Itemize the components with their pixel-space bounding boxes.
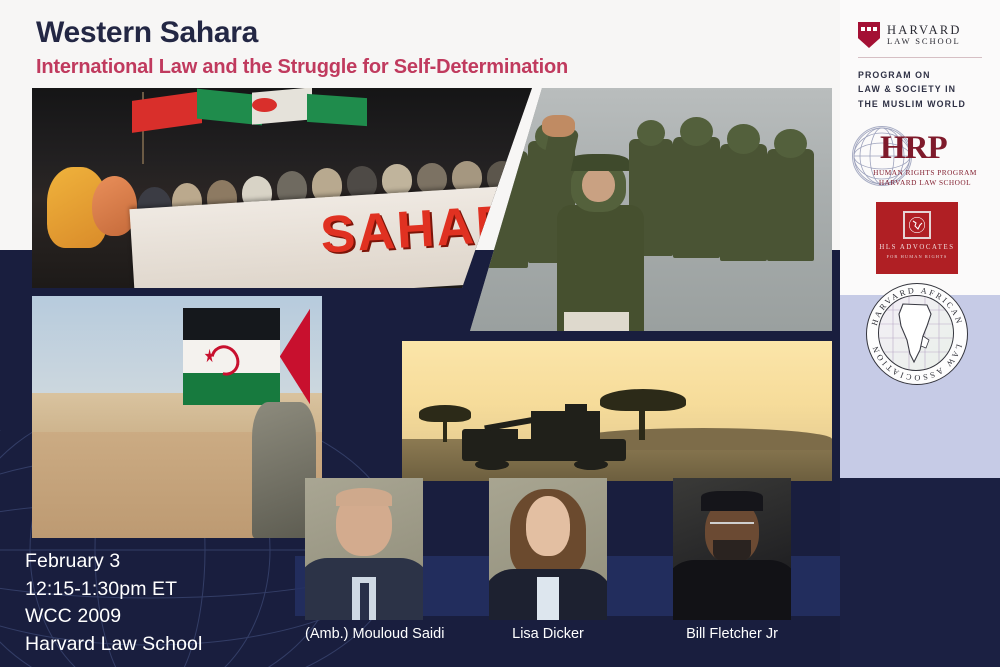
association-arc-text: HARVARD AFRICAN LAW ASSOCIATION [867, 284, 967, 384]
page-title: Western Sahara [36, 18, 258, 48]
speaker-name: (Amb.) Mouloud Saidi [305, 626, 423, 642]
speaker-card: Bill Fletcher Jr [673, 478, 791, 620]
law-school-wordmark: LAW SCHOOL [887, 37, 962, 47]
logo-column-navy-band [840, 478, 1000, 667]
event-venue: Harvard Law School [25, 631, 202, 659]
photo-desert-vehicle [402, 341, 832, 481]
speaker-photo [305, 478, 423, 620]
event-poster: Western Sahara International Law and the… [0, 0, 1000, 667]
hrp-wordmark: HRP [880, 130, 947, 167]
event-time: 12:15-1:30pm ET [25, 576, 202, 604]
program-name: PROGRAM ON LAW & SOCIETY IN THE MUSLIM W… [858, 68, 986, 111]
logo-divider [858, 57, 982, 58]
svg-text:HARVARD AFRICAN: HARVARD AFRICAN [870, 286, 964, 327]
page-subtitle: International Law and the Struggle for S… [36, 57, 568, 77]
hrp-subtitle-1: HUMAN RIGHTS PROGRAM [858, 168, 992, 177]
event-date: February 3 [25, 548, 202, 576]
event-details: February 3 12:15-1:30pm ET WCC 2009 Harv… [25, 548, 202, 659]
speaker-photo [489, 478, 607, 620]
hrp-logo: HRP HUMAN RIGHTS PROGRAM HARVARD LAW SCH… [852, 126, 992, 196]
harvard-wordmark: HARVARD [887, 23, 962, 37]
advocates-globe-icon [903, 211, 931, 239]
photo-protest: SAHARA [32, 88, 532, 288]
svg-text:LAW ASSOCIATION: LAW ASSOCIATION [870, 343, 963, 382]
hrp-subtitle-2: HARVARD LAW SCHOOL [858, 178, 992, 187]
advocates-line-2: FOR HUMAN RIGHTS [876, 254, 958, 259]
speaker-name: Bill Fletcher Jr [673, 626, 791, 642]
speaker-card: (Amb.) Mouloud Saidi [305, 478, 423, 620]
photo-sahrawi-flag [32, 296, 322, 538]
photo-collage: SAHARA [32, 88, 832, 538]
advocates-line-1: HLS ADVOCATES [876, 244, 958, 251]
speaker-card: Lisa Dicker [489, 478, 607, 620]
hls-advocates-logo: HLS ADVOCATES FOR HUMAN RIGHTS [876, 202, 958, 274]
event-room: WCC 2009 [25, 603, 202, 631]
speaker-name: Lisa Dicker [489, 626, 607, 642]
harvard-law-school-logo: HARVARD LAW SCHOOL [858, 22, 962, 48]
acacia-tree [600, 389, 686, 439]
speaker-photo [673, 478, 791, 620]
sahrawi-flag [183, 308, 311, 405]
photo-soldiers [470, 88, 832, 331]
speaker-list: (Amb.) Mouloud Saidi Lisa Dicker Bill F [295, 478, 840, 667]
harvard-african-law-association-logo: HARVARD AFRICAN LAW ASSOCIATION [866, 283, 968, 385]
harvard-shield-icon [858, 22, 880, 48]
